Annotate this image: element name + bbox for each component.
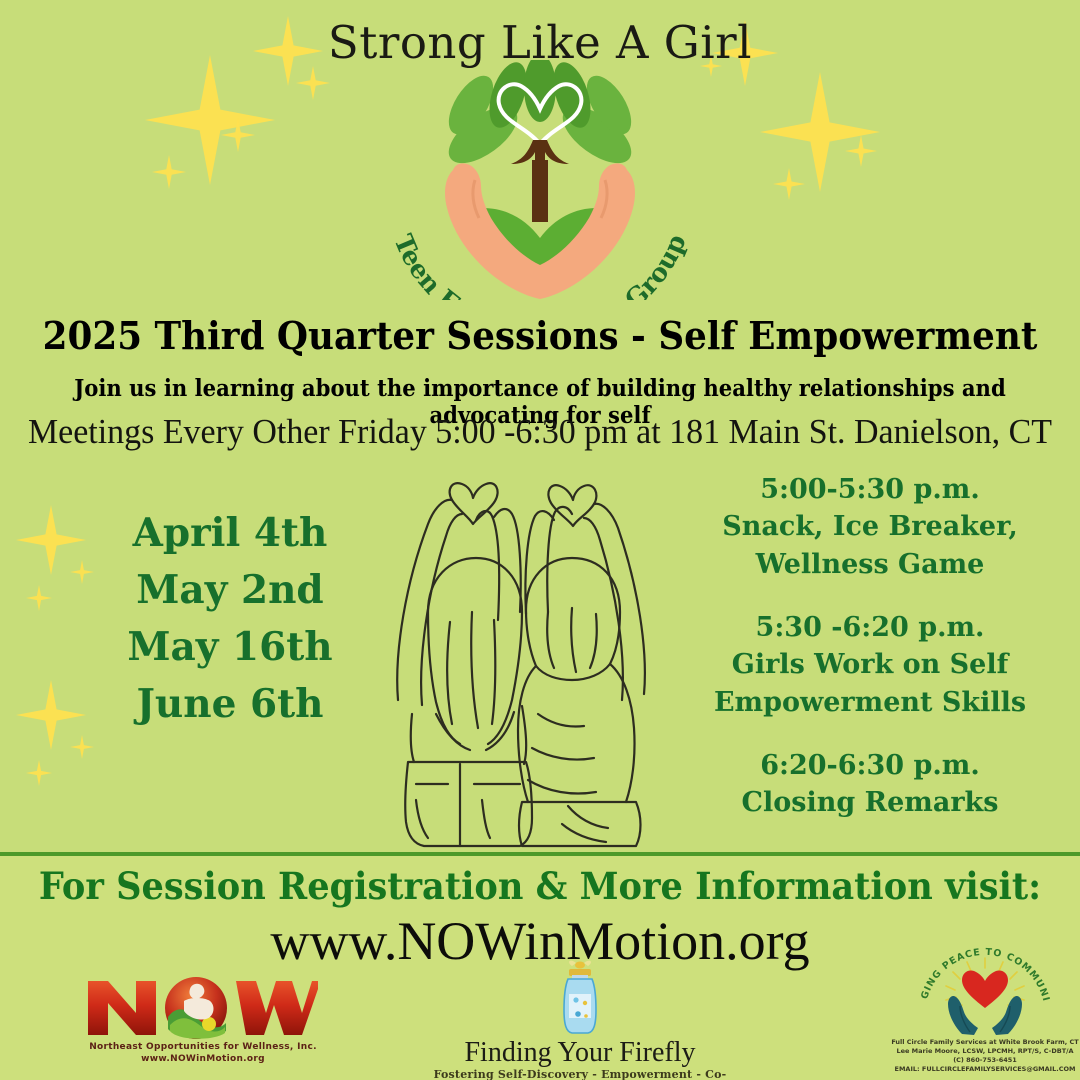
peace-line-4: EMAIL: FULLCIRCLEFAMILYSERVICES@GMAIL.CO…: [890, 1065, 1080, 1074]
schedule-description: Girls Work on Self Empowerment Skills: [660, 646, 1080, 722]
peace-line-3: (C) 860-753-6451: [890, 1056, 1080, 1065]
sparkle-icon: [26, 760, 52, 786]
section-divider: [0, 852, 1080, 856]
peace-logo-contact-block: Full Circle Family Services at White Bro…: [890, 1038, 1080, 1074]
schedule-time: 6:20-6:30 p.m.: [660, 748, 1080, 784]
firefly-jar-icon: [552, 958, 608, 1036]
session-date: April 4th: [95, 505, 365, 562]
sparkle-icon: [16, 680, 86, 750]
teen-empowerment-logo: Teen Empowerment Group: [375, 60, 705, 300]
sparkle-icon: [296, 66, 330, 100]
now-logo: Northeast Opportunities for Wellness, In…: [78, 975, 328, 1065]
heart-in-hands-icon: BRINGING PEACE TO COMMUNITIES: [910, 942, 1060, 1038]
now-wordmark-icon: [86, 975, 320, 1041]
finding-your-firefly-logo: Finding Your Firefly Fostering Self-Disc…: [420, 958, 740, 1080]
schedule-description: Closing Remarks: [660, 784, 1080, 822]
sparkle-icon: [70, 735, 94, 759]
sparkle-icon: [70, 560, 94, 584]
schedule-block: 6:20-6:30 p.m. Closing Remarks: [660, 748, 1080, 822]
firefly-logo-tagline: Fostering Self-Discovery - Empowerment -…: [420, 1068, 740, 1080]
sparkle-icon: [145, 55, 275, 185]
schedule-description: Snack, Ice Breaker, Wellness Game: [660, 508, 1080, 584]
session-dates-list: April 4th May 2nd May 16th June 6th: [95, 505, 365, 733]
session-date: May 16th: [95, 619, 365, 676]
tree-in-hands-icon: Teen Empowerment Group: [375, 60, 705, 300]
sparkle-icon: [221, 118, 255, 152]
two-girls-heart-hands-illustration: [372, 462, 672, 852]
flyer-canvas: Strong Like A Girl: [0, 0, 1080, 1080]
bringing-peace-logo: BRINGING PEACE TO COMMUNITIES Full Circl…: [890, 942, 1080, 1074]
sparkle-icon: [773, 168, 805, 200]
peace-line-2: Lee Marie Moore, LCSW, LPCMH, RPT/S, C-D…: [890, 1047, 1080, 1056]
now-tagline: Northeast Opportunities for Wellness, In…: [78, 1041, 328, 1053]
sparkle-icon: [845, 135, 877, 167]
meeting-details-line: Meetings Every Other Friday 5:00 -6:30 p…: [16, 412, 1064, 452]
schedule-time: 5:30 -6:20 p.m.: [660, 610, 1080, 646]
peace-line-1: Full Circle Family Services at White Bro…: [890, 1038, 1080, 1047]
now-url: www.NOWinMotion.org: [78, 1053, 328, 1065]
schedule-block: 5:30 -6:20 p.m. Girls Work on Self Empow…: [660, 610, 1080, 722]
session-date: June 6th: [95, 676, 365, 733]
headline: 2025 Third Quarter Sessions - Self Empow…: [32, 313, 1047, 358]
registration-call-to-action: For Session Registration & More Informat…: [27, 864, 1053, 908]
schedule-block: 5:00-5:30 p.m. Snack, Ice Breaker, Welln…: [660, 472, 1080, 584]
session-schedule: 5:00-5:30 p.m. Snack, Ice Breaker, Welln…: [660, 472, 1080, 848]
sparkle-icon: [152, 155, 186, 189]
sparkle-icon: [26, 585, 52, 611]
firefly-logo-name: Finding Your Firefly: [420, 1038, 740, 1068]
sparkle-icon: [16, 505, 86, 575]
schedule-time: 5:00-5:30 p.m.: [660, 472, 1080, 508]
session-date: May 2nd: [95, 562, 365, 619]
sparkle-icon: [760, 72, 880, 192]
